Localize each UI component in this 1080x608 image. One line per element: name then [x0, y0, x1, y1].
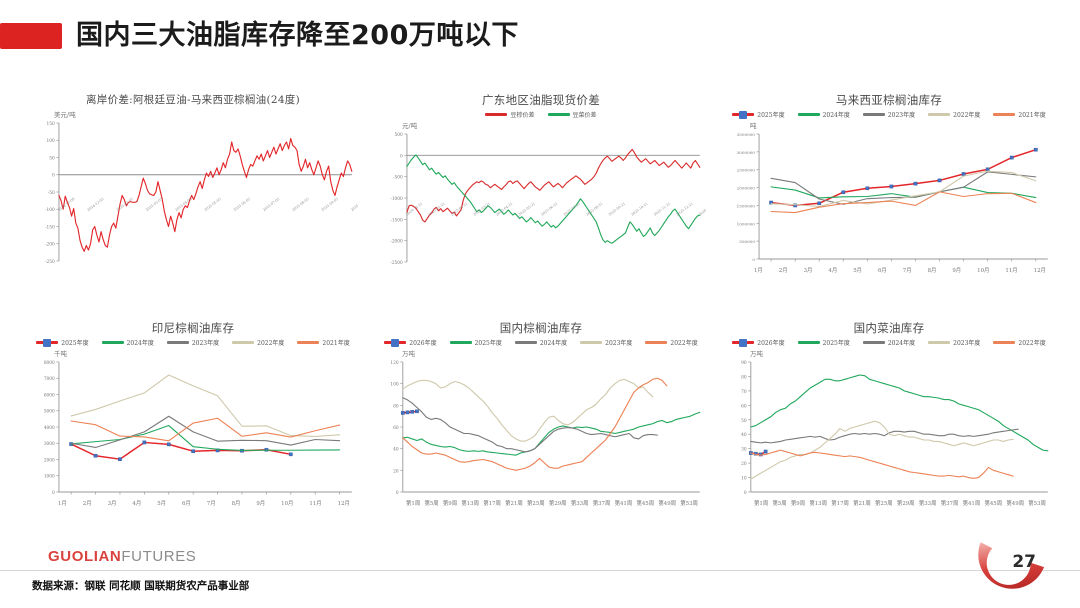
chart-plot-area: 150100500-50-100-150-200-2502024-10-0820… — [28, 119, 358, 269]
legend-item: 2022年度 — [928, 110, 980, 119]
svg-text:-1000: -1000 — [390, 197, 403, 202]
legend-item: 2025年度 — [732, 110, 784, 119]
svg-text:70: 70 — [741, 390, 747, 395]
x-axis-tick-label: 第25周 — [527, 499, 545, 507]
svg-text:-200: -200 — [45, 243, 55, 248]
legend-item: 2021年度 — [297, 338, 349, 347]
x-axis-tick-label: 第13周 — [461, 499, 479, 507]
x-axis-tick-label: 第45周 — [984, 499, 1002, 507]
svg-text:2025-02-05: 2025-02-05 — [116, 197, 134, 212]
legend-swatch-icon — [798, 341, 820, 344]
x-axis-tick-label: 6月 — [182, 499, 191, 507]
x-axis-tick-label: 第25周 — [875, 499, 893, 507]
chart-panel-domestic-palm-stock: 国内棕榈油库存 2026年度2025年度2024年度2023年度2022年度 万… — [372, 314, 710, 538]
legend-label: 2022年度 — [257, 338, 284, 347]
x-axis-tick-label: 第17周 — [831, 499, 849, 507]
x-axis-tick-label: 第1周 — [406, 499, 420, 507]
x-axis-tick-label: 5月 — [157, 499, 166, 507]
x-axis-tick-label: 11月 — [309, 499, 321, 507]
svg-text:3000: 3000 — [44, 442, 55, 447]
chart-title: 广东地区油脂现货价差 — [376, 92, 706, 108]
svg-text:2025-05-05: 2025-05-05 — [203, 197, 221, 212]
page-title: 国内三大油脂库存降至200万吨以下 — [76, 22, 519, 49]
svg-text:3000000: 3000000 — [737, 150, 756, 155]
x-axis-tick-label: 9月 — [256, 499, 265, 507]
legend-item: 2024年度 — [798, 110, 850, 119]
svg-text:-2500: -2500 — [390, 261, 403, 266]
legend-label: 豆菜价差 — [573, 110, 597, 119]
svg-text:60: 60 — [393, 426, 399, 431]
brand-logo-primary: GUOLIAN — [48, 548, 121, 565]
legend-item: 2023年度 — [580, 338, 632, 347]
legend-item: 2026年度 — [384, 338, 436, 347]
legend-swatch-icon — [928, 113, 950, 116]
legend-label: 2025年度 — [823, 338, 850, 347]
svg-text:1000000: 1000000 — [737, 221, 756, 226]
chart-title: 国内棕榈油库存 — [376, 320, 706, 336]
legend-label: 2023年度 — [605, 338, 632, 347]
legend-swatch-icon — [580, 341, 602, 344]
x-axis-tick-label: 5月 — [853, 266, 862, 274]
data-source-note: 数据来源：钢联 同花顺 国联期货农产品事业部 — [32, 578, 249, 593]
legend-item: 2025年度 — [36, 338, 88, 347]
chart-legend: 豆棕价差 豆菜价差 — [376, 110, 706, 119]
x-axis-tick-label: 6月 — [878, 266, 887, 274]
x-axis-tick-label: 4月 — [132, 499, 141, 507]
svg-text:90: 90 — [741, 361, 747, 366]
svg-text:2025-09-21: 2025-09-21 — [608, 202, 626, 217]
legend-item: 2023年度 — [167, 338, 219, 347]
svg-text:2025-07-05: 2025-07-05 — [262, 197, 280, 212]
svg-text:10: 10 — [741, 477, 747, 482]
svg-text:-150: -150 — [45, 226, 55, 231]
legend-swatch-icon — [297, 341, 319, 344]
legend-swatch-icon — [732, 113, 754, 116]
chart-plot-area: 800070006000500040003000200010000 — [28, 358, 358, 498]
legend-label: 2021年度 — [1018, 110, 1045, 119]
legend-label: 2026年度 — [757, 338, 784, 347]
x-axis-tick-label: 10月 — [281, 499, 293, 507]
legend-item: 2025年度 — [798, 338, 850, 347]
svg-text:7000: 7000 — [44, 377, 55, 382]
svg-text:120: 120 — [390, 361, 399, 366]
svg-text:100: 100 — [390, 383, 399, 388]
chart-ylabel: 万吨 — [750, 348, 1054, 358]
chart-xaxis: 第1周第5周第9周第13周第17周第21周第25周第29周第33周第37周第41… — [724, 499, 1054, 507]
legend-item: 2022年度 — [645, 338, 697, 347]
svg-text:40: 40 — [741, 433, 747, 438]
legend-swatch-icon — [167, 341, 189, 344]
svg-text:1500000: 1500000 — [737, 203, 756, 208]
legend-item: 豆棕价差 — [485, 110, 534, 119]
x-axis-tick-label: 7月 — [207, 499, 216, 507]
svg-text:-250: -250 — [45, 260, 55, 265]
charts-grid: 离岸价差:阿根廷豆油-马来西亚棕榈油(24度) 美元/吨 150100500-5… — [24, 86, 1058, 538]
legend-swatch-icon — [993, 341, 1015, 344]
legend-item: 2023年度 — [928, 338, 980, 347]
svg-text:50: 50 — [49, 157, 55, 162]
x-axis-tick-label: 11月 — [1005, 266, 1017, 274]
svg-text:0: 0 — [52, 491, 55, 496]
x-axis-tick-label: 8月 — [928, 266, 937, 274]
chart-panel-malaysia-palm-stock: 马来西亚棕榈油库存 2025年度2024年度2023年度2022年度2021年度… — [720, 86, 1058, 310]
chart-ylabel: 千吨 — [54, 348, 358, 358]
x-axis-tick-label: 第49周 — [1006, 499, 1024, 507]
x-axis-tick-label: 12月 — [338, 499, 350, 507]
chart-panel-guangdong-spread: 广东地区油脂现货价差 豆棕价差 豆菜价差 元/吨 5000-500-1000-1… — [372, 86, 710, 310]
legend-item: 2024年度 — [863, 338, 915, 347]
x-axis-tick-label: 第9周 — [791, 499, 805, 507]
svg-text:-500: -500 — [393, 176, 403, 181]
x-axis-tick-label: 第5周 — [424, 499, 438, 507]
svg-text:2025-05-21: 2025-05-21 — [518, 202, 536, 217]
legend-swatch-icon — [798, 113, 820, 116]
svg-text:0: 0 — [396, 491, 399, 496]
x-axis-tick-label: 10月 — [977, 266, 989, 274]
svg-text:2000: 2000 — [44, 459, 55, 464]
svg-text:2025-06-05: 2025-06-05 — [233, 197, 251, 212]
legend-item: 2023年度 — [863, 110, 915, 119]
svg-text:150: 150 — [47, 122, 56, 127]
legend-swatch-icon — [928, 341, 950, 344]
legend-item: 2025年度 — [450, 338, 502, 347]
legend-swatch-icon — [36, 341, 58, 344]
x-axis-tick-label: 第17周 — [483, 499, 501, 507]
x-axis-tick-label: 1月 — [58, 499, 67, 507]
x-axis-tick-label: 第29周 — [549, 499, 567, 507]
svg-text:80: 80 — [741, 375, 747, 380]
legend-item: 2022年度 — [232, 338, 284, 347]
legend-swatch-icon — [732, 341, 754, 344]
svg-text:8000: 8000 — [44, 361, 55, 366]
x-axis-tick-label: 第49周 — [658, 499, 676, 507]
svg-text:100: 100 — [47, 139, 56, 144]
svg-text:2025-10-21: 2025-10-21 — [630, 202, 648, 217]
svg-text:3500000: 3500000 — [737, 132, 756, 137]
chart-panel-indonesia-palm-stock: 印尼棕榈油库存 2025年度2024年度2023年度2022年度2021年度 千… — [24, 314, 362, 538]
legend-label: 2023年度 — [953, 338, 980, 347]
legend-label: 2022年度 — [953, 110, 980, 119]
legend-swatch-icon — [645, 341, 667, 344]
svg-text:2025-07-21: 2025-07-21 — [563, 202, 581, 217]
x-axis-tick-label: 9月 — [952, 266, 961, 274]
page-number: 27 — [1012, 552, 1036, 572]
svg-text:0: 0 — [744, 491, 747, 496]
x-axis-tick-label: 2月 — [83, 499, 92, 507]
x-axis-tick-label: 3月 — [804, 266, 813, 274]
x-axis-tick-label: 7月 — [903, 266, 912, 274]
x-axis-tick-label: 第37周 — [593, 499, 611, 507]
chart-legend: 2026年度2025年度2024年度2023年度2022年度 — [724, 338, 1054, 347]
legend-item: 2026年度 — [732, 338, 784, 347]
x-axis-tick-label: 第53周 — [680, 499, 698, 507]
x-axis-tick-label: 第41周 — [963, 499, 981, 507]
svg-text:2025-11-21: 2025-11-21 — [653, 202, 671, 217]
chart-xaxis: 1月2月3月4月5月6月7月8月9月10月11月12月 — [28, 499, 358, 507]
x-axis-tick-label: 4月 — [828, 266, 837, 274]
svg-text:20: 20 — [393, 469, 399, 474]
chart-title: 国内菜油库存 — [724, 320, 1054, 336]
svg-text:30: 30 — [741, 448, 747, 453]
legend-label: 2024年度 — [823, 110, 850, 119]
svg-text:2025-02-21: 2025-02-21 — [450, 202, 468, 217]
x-axis-tick-label: 第33周 — [919, 499, 937, 507]
x-axis-tick-label: 第45周 — [636, 499, 654, 507]
legend-label: 2021年度 — [322, 338, 349, 347]
legend-item: 2024年度 — [102, 338, 154, 347]
legend-label: 2022年度 — [670, 338, 697, 347]
legend-swatch-icon — [384, 341, 406, 344]
legend-swatch-icon — [485, 113, 507, 116]
legend-swatch-icon — [863, 113, 885, 116]
legend-label: 2025年度 — [475, 338, 502, 347]
chart-legend: 2025年度2024年度2023年度2022年度2021年度 — [724, 110, 1054, 119]
svg-text:2500000: 2500000 — [737, 168, 756, 173]
chart-xaxis: 1月2月3月4月5月6月7月8月9月10月11月12月 — [724, 266, 1054, 274]
chart-panel-domestic-rapeseed-oil-stock: 国内菜油库存 2026年度2025年度2024年度2023年度2022年度 万吨… — [720, 314, 1058, 538]
chart-title: 印尼棕榈油库存 — [28, 320, 358, 336]
svg-text:0: 0 — [752, 257, 755, 262]
legend-label: 豆棕价差 — [510, 110, 534, 119]
chart-plot-area: 120100806040200 — [376, 358, 706, 498]
x-axis-tick-label: 第1周 — [754, 499, 768, 507]
legend-item: 2021年度 — [993, 110, 1045, 119]
svg-text:-2000: -2000 — [390, 240, 403, 245]
legend-label: 2023年度 — [888, 110, 915, 119]
svg-text:4000: 4000 — [44, 426, 55, 431]
x-axis-tick-label: 第33周 — [571, 499, 589, 507]
svg-text:60: 60 — [741, 404, 747, 409]
chart-panel-offshore-spread: 离岸价差:阿根廷豆油-马来西亚棕榈油(24度) 美元/吨 150100500-5… — [24, 86, 362, 310]
svg-text:2025-10-05: 2025-10-05 — [350, 197, 358, 212]
svg-text:5000: 5000 — [44, 410, 55, 415]
legend-label: 2025年度 — [61, 338, 88, 347]
x-axis-tick-label: 2月 — [779, 266, 788, 274]
x-axis-tick-label: 3月 — [108, 499, 117, 507]
legend-swatch-icon — [102, 341, 124, 344]
svg-text:2025-03-05: 2025-03-05 — [145, 197, 163, 212]
slide-header: 国内三大油脂库存降至200万吨以下 — [0, 22, 519, 49]
x-axis-tick-label: 12月 — [1034, 266, 1046, 274]
legend-item: 2022年度 — [993, 338, 1045, 347]
legend-label: 2024年度 — [888, 338, 915, 347]
chart-title: 马来西亚棕榈油库存 — [724, 92, 1054, 108]
svg-text:-100: -100 — [45, 208, 55, 213]
svg-text:500: 500 — [395, 133, 404, 138]
x-axis-tick-label: 第53周 — [1028, 499, 1046, 507]
svg-text:2025-09-05: 2025-09-05 — [321, 197, 339, 212]
chart-ylabel: 吨 — [750, 120, 1054, 130]
chart-plot-area: 9080706050403020100 — [724, 358, 1054, 498]
svg-text:-1500: -1500 — [390, 218, 403, 223]
chart-xaxis: 第1周第5周第9周第13周第17周第21周第25周第29周第33周第37周第41… — [376, 499, 706, 507]
legend-label: 2024年度 — [127, 338, 154, 347]
svg-text:2025-08-05: 2025-08-05 — [291, 197, 309, 212]
x-axis-tick-label: 第5周 — [772, 499, 786, 507]
svg-text:40: 40 — [393, 448, 399, 453]
x-axis-tick-label: 第41周 — [615, 499, 633, 507]
legend-item: 2024年度 — [515, 338, 567, 347]
svg-text:6000: 6000 — [44, 394, 55, 399]
chart-plot-area: 5000-500-1000-1500-2000-25002024-12-2120… — [376, 130, 706, 270]
legend-label: 2026年度 — [409, 338, 436, 347]
x-axis-tick-label: 8月 — [232, 499, 241, 507]
legend-swatch-icon — [232, 341, 254, 344]
x-axis-tick-label: 1月 — [754, 266, 763, 274]
legend-swatch-icon — [548, 113, 570, 116]
x-axis-tick-label: 第37周 — [941, 499, 959, 507]
svg-text:500000: 500000 — [739, 239, 755, 244]
legend-label: 2023年度 — [192, 338, 219, 347]
legend-label: 2022年度 — [1018, 338, 1045, 347]
legend-swatch-icon — [993, 113, 1015, 116]
svg-text:80: 80 — [393, 404, 399, 409]
svg-text:2025-06-21: 2025-06-21 — [540, 202, 558, 217]
chart-ylabel: 美元/吨 — [54, 109, 358, 119]
legend-label: 2025年度 — [757, 110, 784, 119]
svg-text:50: 50 — [741, 419, 747, 424]
legend-swatch-icon — [863, 341, 885, 344]
svg-text:2025-12-21: 2025-12-21 — [675, 202, 693, 217]
legend-swatch-icon — [450, 341, 472, 344]
svg-text:2025-01-21: 2025-01-21 — [428, 202, 446, 217]
slide: 国内三大油脂库存降至200万吨以下 离岸价差:阿根廷豆油-马来西亚棕榈油(24度… — [0, 0, 1080, 608]
svg-text:-50: -50 — [48, 191, 55, 196]
x-axis-tick-label: 第9周 — [443, 499, 457, 507]
footer-divider — [0, 570, 1080, 571]
x-axis-tick-label: 第13周 — [809, 499, 827, 507]
brand-logo-secondary: FUTURES — [121, 548, 196, 565]
chart-legend: 2026年度2025年度2024年度2023年度2022年度 — [376, 338, 706, 347]
svg-text:20: 20 — [741, 462, 747, 467]
legend-label: 2024年度 — [540, 338, 567, 347]
chart-ylabel: 万吨 — [402, 348, 706, 358]
brand-logo: GUOLIANFUTURES — [48, 548, 196, 565]
svg-text:2026-01-21: 2026-01-21 — [698, 202, 706, 217]
svg-text:0: 0 — [52, 174, 55, 179]
x-axis-tick-label: 第21周 — [853, 499, 871, 507]
svg-text:1000: 1000 — [44, 475, 55, 480]
chart-legend: 2025年度2024年度2023年度2022年度2021年度 — [28, 338, 358, 347]
chart-title: 离岸价差:阿根廷豆油-马来西亚棕榈油(24度) — [28, 92, 358, 107]
header-accent-bar — [0, 23, 62, 49]
svg-text:0: 0 — [400, 154, 403, 159]
chart-ylabel: 元/吨 — [402, 120, 706, 130]
chart-plot-area: 3500000300000025000002000000150000010000… — [724, 130, 1054, 265]
svg-text:2000000: 2000000 — [737, 186, 756, 191]
svg-text:2024-12-05: 2024-12-05 — [86, 197, 104, 212]
x-axis-tick-label: 第29周 — [897, 499, 915, 507]
x-axis-tick-label: 第21周 — [505, 499, 523, 507]
legend-item: 豆菜价差 — [548, 110, 597, 119]
legend-swatch-icon — [515, 341, 537, 344]
